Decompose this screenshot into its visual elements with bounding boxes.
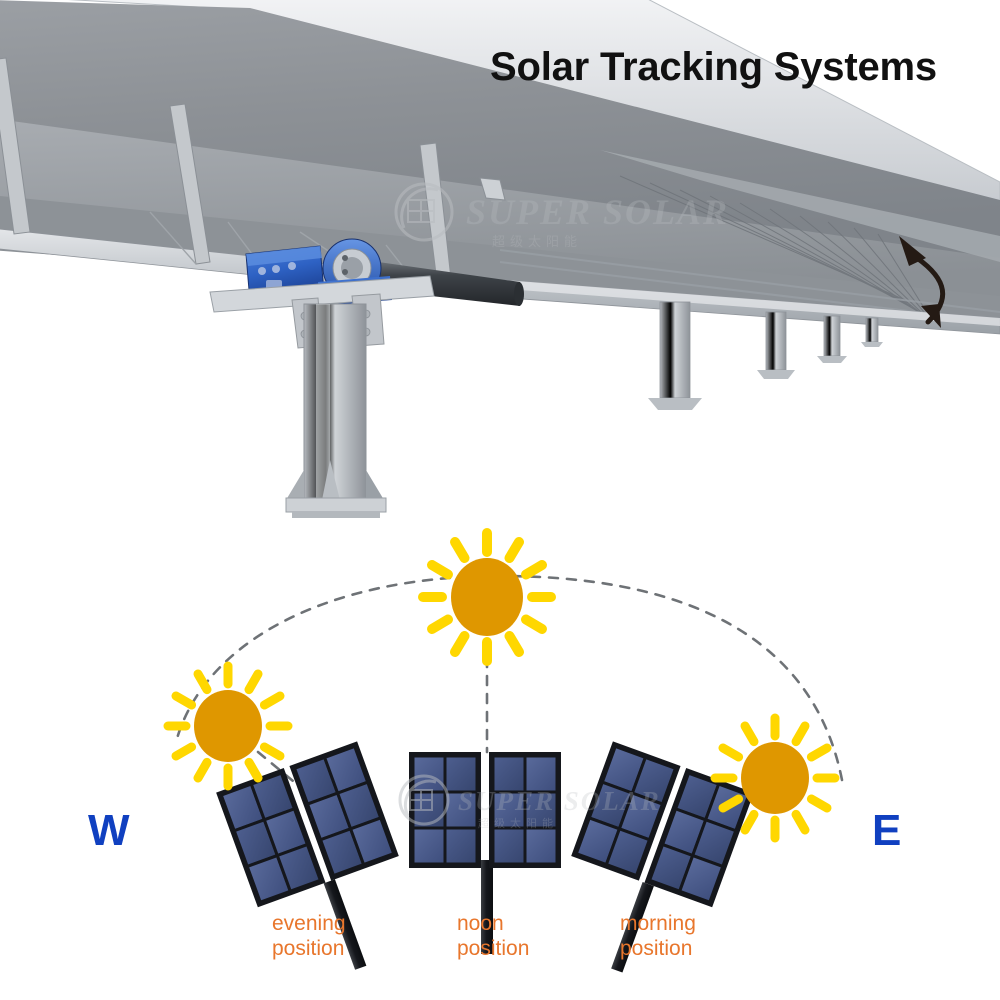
compass-west-label: W [88,806,130,856]
page-title: Solar Tracking Systems [490,45,937,90]
evening-sun-icon [168,666,288,786]
watermark-sub-bottom: 超级太阳能 [478,816,558,830]
sun-path-diagram: SUPER SOLAR 超级太阳能 [0,0,1000,1000]
caption-morning-position: morning position [620,911,696,961]
watermark-brand-bottom: SUPER SOLAR [458,786,661,816]
compass-east-label: E [872,806,901,856]
caption-evening-position: evening position [272,911,346,961]
illustration-canvas: SUPER SOLAR 超级太阳能 [0,0,1000,1000]
caption-noon-position: noon position [457,911,529,961]
noon-sun-icon [423,533,551,661]
